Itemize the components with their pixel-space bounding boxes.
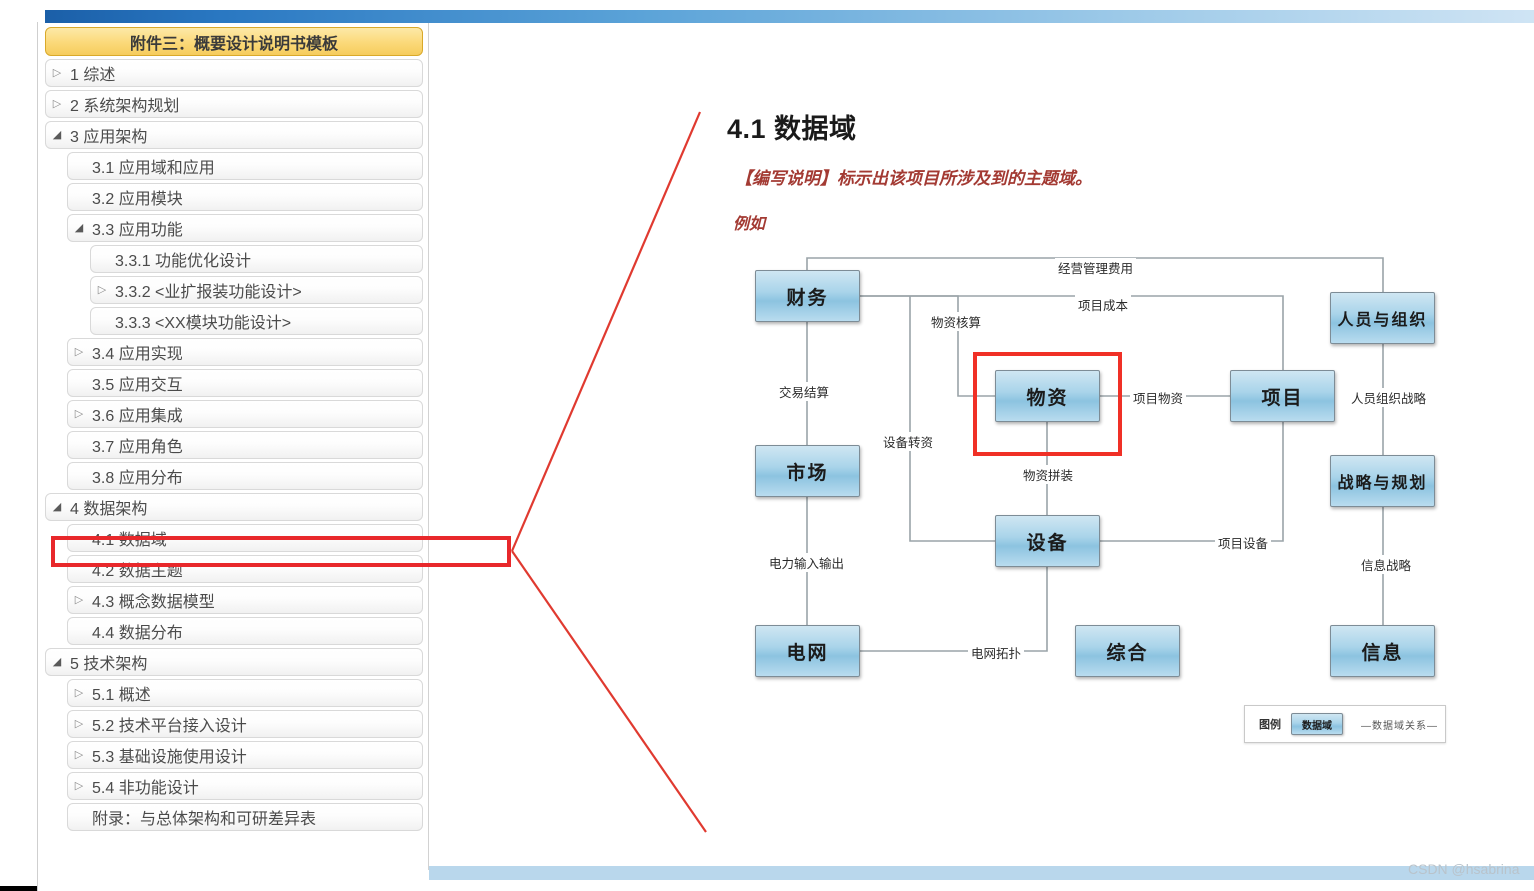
sidebar-item-4[interactable]: 3.1 应用域和应用	[67, 152, 423, 180]
sidebar-item-label: 3.3.1 功能优化设计	[113, 247, 251, 271]
sidebar-item-label: 3.3 应用功能	[90, 216, 183, 240]
sidebar-item-label: 3.8 应用分布	[90, 464, 183, 488]
sidebar-item-20[interactable]: ◢5 技术架构	[45, 648, 423, 676]
sidebar-item-16[interactable]: 4.1 数据域	[67, 524, 423, 552]
sidebar-item-21[interactable]: ▷5.1 概述	[67, 679, 423, 707]
sidebar-item-label: 4.3 概念数据模型	[90, 588, 215, 612]
diagram-legend: 图例 数据域 —数据域关系—	[1244, 705, 1446, 743]
diagram-node-strategy[interactable]: 战略与规划	[1330, 455, 1435, 507]
example-label: 例如	[733, 210, 765, 234]
sidebar-item-label: 4.2 数据主题	[90, 557, 183, 581]
sidebar-item-label: 5 技术架构	[68, 650, 147, 674]
sidebar-item-label: 3.5 应用交互	[90, 371, 183, 395]
chevron-down-icon[interactable]: ◢	[46, 502, 68, 513]
sidebar-item-label: 3.1 应用域和应用	[90, 154, 215, 178]
sidebar-item-11[interactable]: 3.5 应用交互	[67, 369, 423, 397]
diagram-node-finance[interactable]: 财务	[755, 270, 860, 322]
sidebar-item-3[interactable]: ◢3 应用架构	[45, 121, 423, 149]
chevron-right-icon[interactable]: ▷	[91, 285, 113, 296]
chevron-down-icon[interactable]: ◢	[46, 130, 68, 141]
chevron-down-icon[interactable]: ◢	[68, 223, 90, 234]
chevron-right-icon[interactable]: ▷	[46, 99, 68, 110]
chevron-right-icon[interactable]: ▷	[68, 409, 90, 420]
sidebar-item-23[interactable]: ▷5.3 基础设施使用设计	[67, 741, 423, 769]
top-accent-bar	[45, 10, 1534, 23]
legend-node-sample: 数据域	[1291, 713, 1343, 735]
diagram-node-info[interactable]: 信息	[1330, 625, 1435, 677]
toc-title[interactable]: 附件三：概要设计说明书模板	[45, 27, 423, 56]
table-of-contents: 附件三：概要设计说明书模板 ▷1 综述▷2 系统架构规划◢3 应用架构3.1 应…	[45, 27, 423, 834]
chevron-right-icon[interactable]: ▷	[68, 347, 90, 358]
sidebar-item-22[interactable]: ▷5.2 技术平台接入设计	[67, 710, 423, 738]
chevron-right-icon[interactable]: ▷	[68, 719, 90, 730]
sidebar-item-24[interactable]: ▷5.4 非功能设计	[67, 772, 423, 800]
diagram-node-device[interactable]: 设备	[995, 515, 1100, 567]
chevron-right-icon[interactable]: ▷	[68, 595, 90, 606]
sidebar-item-label: 4.1 数据域	[90, 526, 167, 550]
sidebar-item-25[interactable]: 附录：与总体架构和可研差异表	[67, 803, 423, 831]
bottom-edge	[0, 886, 37, 891]
sidebar-item-label: 3.3.2 <业扩报装功能设计>	[113, 278, 302, 302]
sidebar-item-label: 3.4 应用实现	[90, 340, 183, 364]
sidebar-item-13[interactable]: 3.7 应用角色	[67, 431, 423, 459]
edge-label-finance-material: 物资核算	[928, 312, 984, 331]
sidebar-item-label: 附录：与总体架构和可研差异表	[90, 805, 316, 829]
sidebar-item-2[interactable]: ▷2 系统架构规划	[45, 90, 423, 118]
diagram-node-material[interactable]: 物资	[995, 370, 1100, 422]
sidebar-item-19[interactable]: 4.4 数据分布	[67, 617, 423, 645]
chevron-right-icon[interactable]: ▷	[68, 781, 90, 792]
edge-label-strategy-info: 信息战略	[1358, 555, 1414, 574]
sidebar-item-label: 5.3 基础设施使用设计	[90, 743, 247, 767]
edge-label-market-grid: 电力输入输出	[766, 553, 847, 572]
sidebar-item-label: 3.3.3 <XX模块功能设计>	[113, 309, 291, 333]
page-title: 4.1 数据域	[727, 107, 857, 146]
diagram-node-project[interactable]: 项目	[1230, 370, 1335, 422]
chevron-right-icon[interactable]: ▷	[46, 68, 68, 79]
sidebar-item-label: 5.4 非功能设计	[90, 774, 199, 798]
edge-label-device-project: 项目设备	[1215, 533, 1271, 552]
sidebar-item-9[interactable]: 3.3.3 <XX模块功能设计>	[90, 307, 423, 335]
edge-label-material-device: 物资拼装	[1020, 465, 1076, 484]
sidebar-item-label: 4 数据架构	[68, 495, 147, 519]
edge-label-people-strategy: 人员组织战略	[1348, 388, 1429, 407]
editing-note: 【编写说明】标示出该项目所涉及到的主题域。	[735, 164, 1092, 189]
sidebar-item-7[interactable]: 3.3.1 功能优化设计	[90, 245, 423, 273]
left-page-rule	[37, 22, 38, 891]
diagram-node-people[interactable]: 人员与组织	[1330, 292, 1435, 344]
diagram-node-market[interactable]: 市场	[755, 445, 860, 497]
sidebar-item-6[interactable]: ◢3.3 应用功能	[67, 214, 423, 242]
sidebar-item-8[interactable]: ▷3.3.2 <业扩报装功能设计>	[90, 276, 423, 304]
sidebar-item-label: 5.2 技术平台接入设计	[90, 712, 247, 736]
data-domain-diagram: 财务市场电网物资设备综合项目人员与组织战略与规划信息经营管理费用项目成本物资核算…	[700, 240, 1500, 760]
legend-title: 图例	[1245, 716, 1291, 732]
edge-label-finance-project: 项目成本	[1075, 295, 1131, 314]
watermark: CSDN @hsabrina	[1408, 861, 1519, 877]
sidebar-item-label: 3.2 应用模块	[90, 185, 183, 209]
sidebar-item-label: 5.1 概述	[90, 681, 151, 705]
sidebar-item-label: 3.7 应用角色	[90, 433, 183, 457]
chevron-right-icon[interactable]: ▷	[68, 750, 90, 761]
sidebar-item-label: 3 应用架构	[68, 123, 147, 147]
bottom-accent-strip	[429, 866, 1534, 880]
sidebar-item-12[interactable]: ▷3.6 应用集成	[67, 400, 423, 428]
toc-title-label: 附件三：概要设计说明书模板	[130, 30, 338, 54]
chevron-right-icon[interactable]: ▷	[68, 688, 90, 699]
sidebar-item-10[interactable]: ▷3.4 应用实现	[67, 338, 423, 366]
edge-label-material-project: 项目物资	[1130, 388, 1186, 407]
edge-label-finance-device: 设备转资	[880, 432, 936, 451]
sidebar-item-label: 3.6 应用集成	[90, 402, 183, 426]
edge-label-finance-people: 经营管理费用	[1055, 258, 1136, 277]
sidebar-item-1[interactable]: ▷1 综述	[45, 59, 423, 87]
sidebar-item-15[interactable]: ◢4 数据架构	[45, 493, 423, 521]
sidebar-item-18[interactable]: ▷4.3 概念数据模型	[67, 586, 423, 614]
sidebar-item-label: 2 系统架构规划	[68, 92, 179, 116]
sidebar-item-14[interactable]: 3.8 应用分布	[67, 462, 423, 490]
chevron-down-icon[interactable]: ◢	[46, 657, 68, 668]
sidebar-item-label: 4.4 数据分布	[90, 619, 183, 643]
diagram-node-grid[interactable]: 电网	[755, 625, 860, 677]
legend-relation-sample: —数据域关系—	[1343, 717, 1438, 732]
diagram-node-overall[interactable]: 综合	[1075, 625, 1180, 677]
app-root: 附件三：概要设计说明书模板 ▷1 综述▷2 系统架构规划◢3 应用架构3.1 应…	[0, 0, 1534, 891]
edge-label-finance-market: 交易结算	[776, 382, 832, 401]
sidebar-item-label: 1 综述	[68, 61, 115, 85]
sidebar-item-17[interactable]: 4.2 数据主题	[67, 555, 423, 583]
sidebar-item-5[interactable]: 3.2 应用模块	[67, 183, 423, 211]
edge-label-device-grid: 电网拓扑	[968, 643, 1024, 662]
pane-divider	[428, 23, 429, 870]
